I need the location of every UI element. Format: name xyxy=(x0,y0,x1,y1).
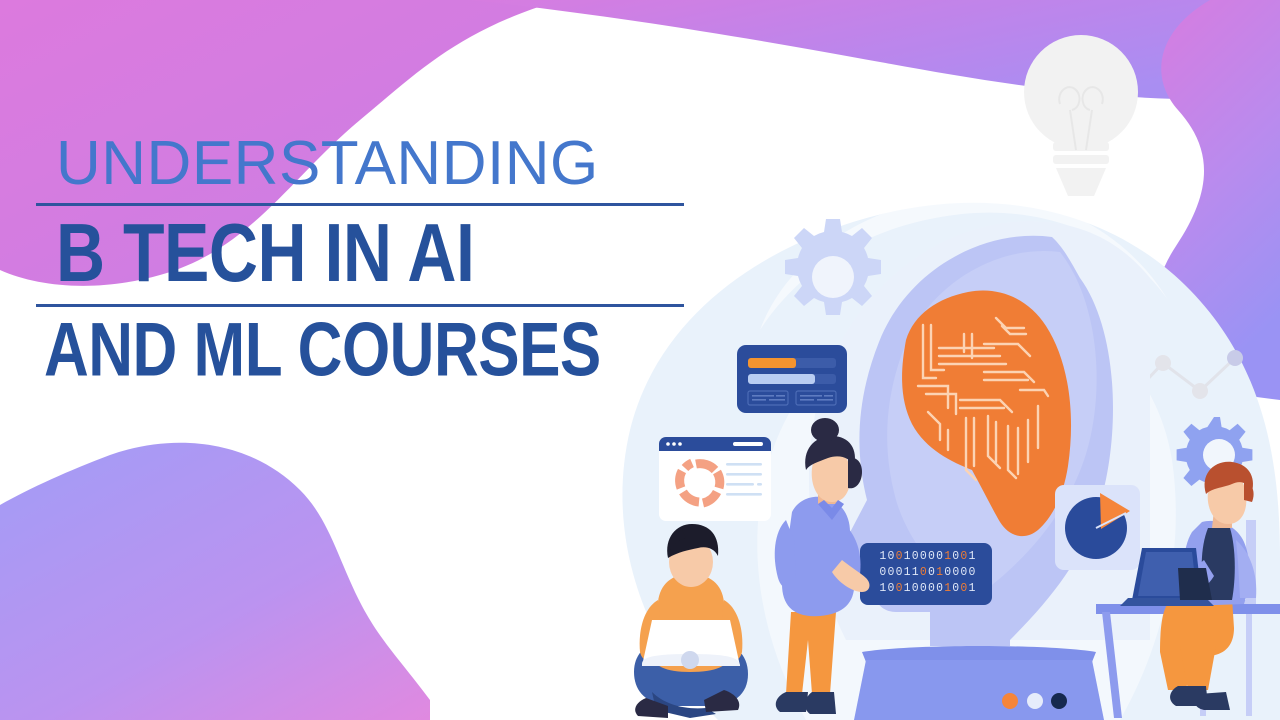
binary-code-text: 100100001001 000110010000 100100001001 xyxy=(866,549,990,597)
dot-active[interactable] xyxy=(1002,693,1018,709)
headline-line-3: AND ML COURSES xyxy=(36,311,696,390)
dot-3[interactable] xyxy=(1051,693,1067,709)
dot-2[interactable] xyxy=(1027,693,1043,709)
banner-canvas: 100100001001 000110010000 100100001001 xyxy=(0,0,1280,720)
headline-line-2: B TECH IN AI xyxy=(36,210,696,297)
page-title: UNDERSTANDING B TECH IN AI AND ML COURSE… xyxy=(36,132,696,376)
headline-line-1: UNDERSTANDING xyxy=(36,132,696,195)
headline-rule-2 xyxy=(36,304,684,307)
